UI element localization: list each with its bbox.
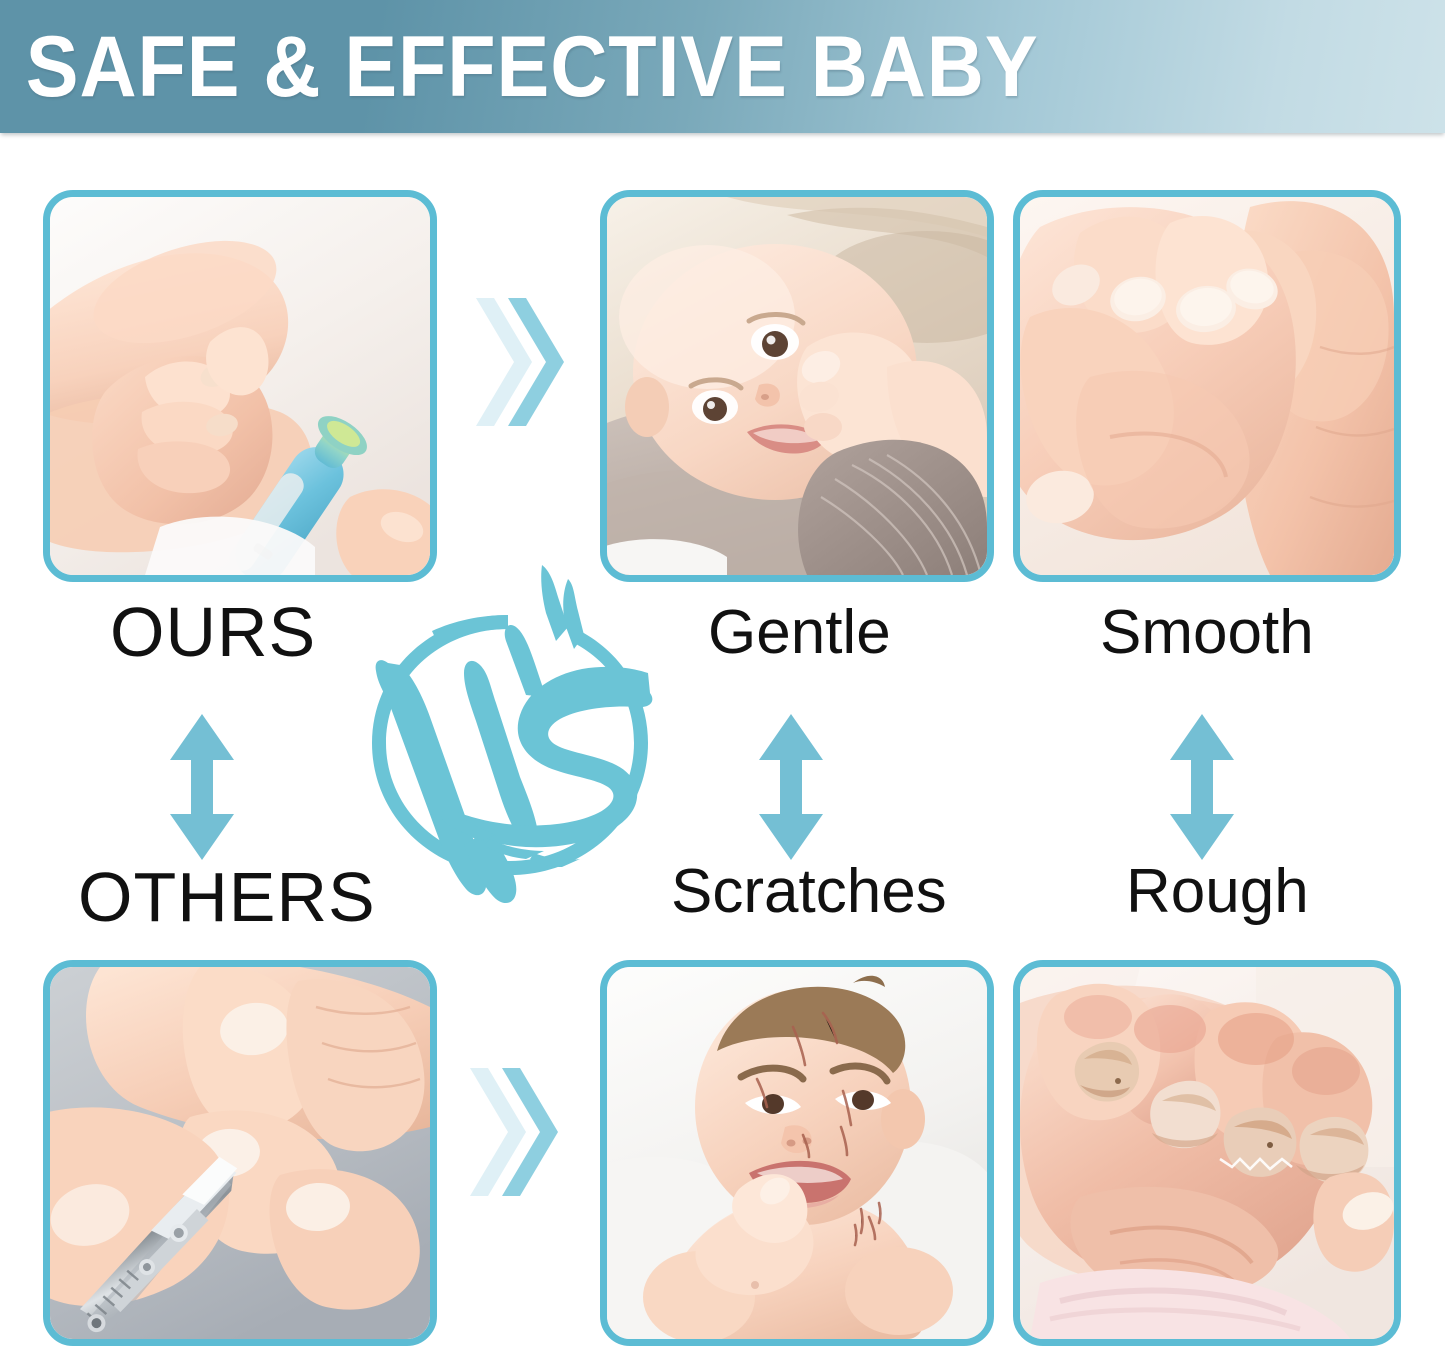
photo-smooth-nails	[1020, 197, 1394, 575]
panel-ours-smooth	[1013, 190, 1401, 582]
arrow-gentle-vs-scratches	[757, 712, 825, 862]
illustration-rough-baby-nails	[1020, 967, 1394, 1339]
illustration-happy-baby	[607, 197, 987, 575]
vs-badge	[330, 545, 690, 945]
panel-others-scratches	[600, 960, 994, 1346]
panel-others-product	[43, 960, 437, 1346]
double-chevron-right-icon	[468, 1062, 564, 1202]
header-banner: SAFE & EFFECTIVE BABY	[0, 0, 1445, 133]
label-gentle: Gentle	[708, 602, 891, 664]
chevron-bottom	[468, 1062, 564, 1202]
panel-others-rough	[1013, 960, 1401, 1346]
photo-ours-product	[50, 197, 430, 575]
label-others: OTHERS	[78, 862, 376, 932]
label-smooth: Smooth	[1100, 602, 1314, 664]
illustration-smooth-baby-nails	[1020, 197, 1394, 575]
photo-metal-clipper	[50, 967, 430, 1339]
illustration-electric-trimmer	[50, 197, 430, 575]
chevron-top	[474, 292, 570, 432]
label-rough: Rough	[1126, 861, 1309, 923]
illustration-crying-baby	[607, 967, 987, 1339]
double-arrow-vertical-icon	[168, 712, 236, 862]
double-chevron-right-icon	[474, 292, 570, 432]
photo-scratched-baby	[607, 967, 987, 1339]
double-arrow-vertical-icon	[757, 712, 825, 862]
photo-rough-nails	[1020, 967, 1394, 1339]
double-arrow-vertical-icon	[1168, 712, 1236, 862]
vs-brush-circle-icon	[330, 545, 690, 945]
arrow-smooth-vs-rough	[1168, 712, 1236, 862]
panel-ours-gentle	[600, 190, 994, 582]
label-scratches: Scratches	[671, 861, 947, 923]
page-title: SAFE & EFFECTIVE BABY	[0, 24, 1039, 110]
photo-gentle-baby	[607, 197, 987, 575]
label-ours: OURS	[110, 597, 316, 667]
arrow-ours-vs-others	[168, 712, 236, 862]
illustration-nail-clipper	[50, 967, 430, 1339]
panel-ours-product	[43, 190, 437, 582]
